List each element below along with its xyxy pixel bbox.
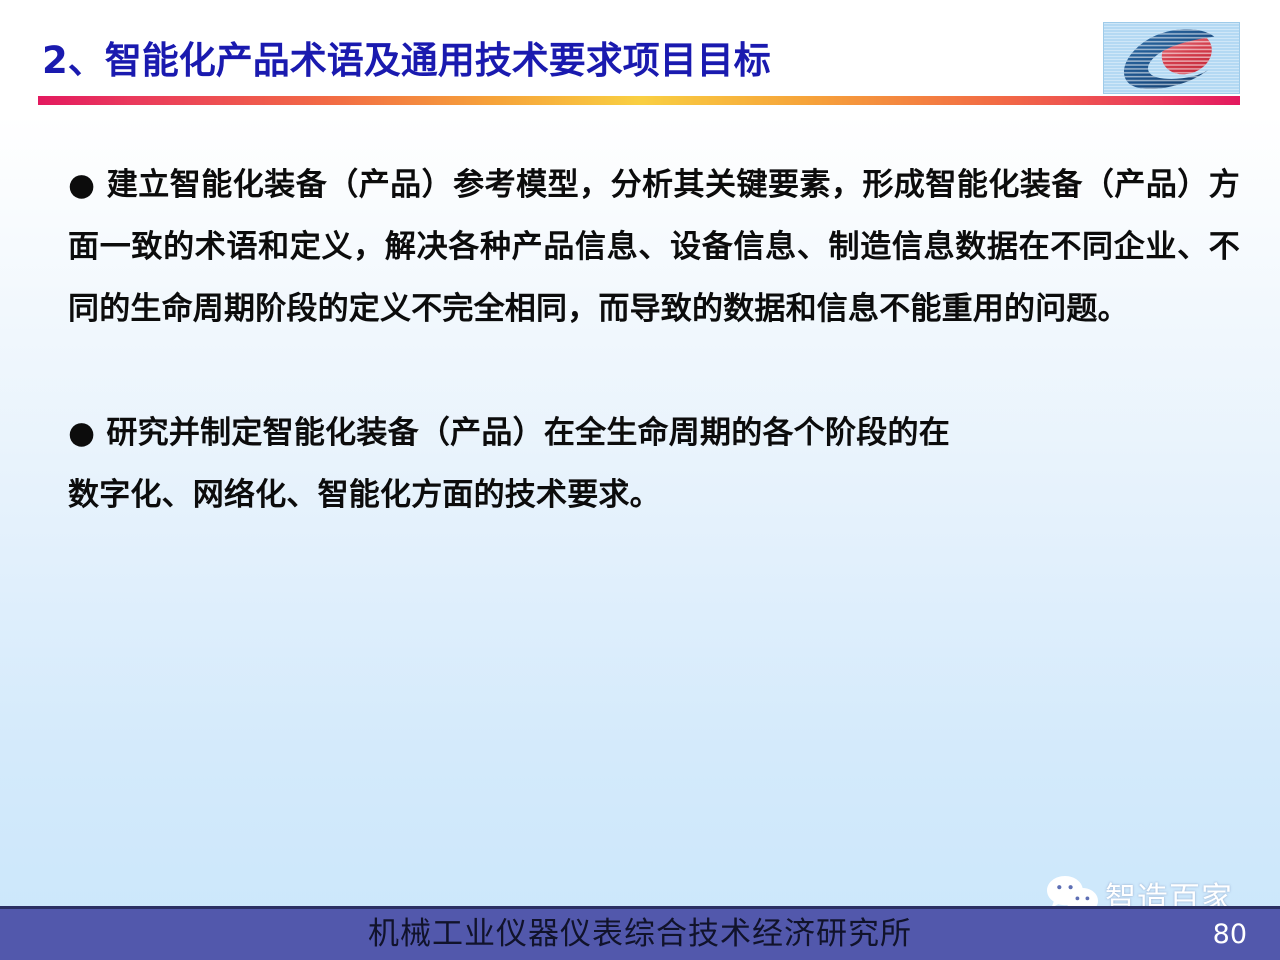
slide-title-area: 2、智能化产品术语及通用技术要求项目目标 — [0, 0, 1280, 110]
footer-organization: 机械工业仪器仪表综合技术经济研究所 — [0, 909, 1280, 960]
page-number: 80 — [1213, 909, 1247, 960]
slide-body: ● 建立智能化装备（产品）参考模型，分析其关键要素，形成智能化装备（产品）方面一… — [0, 130, 1280, 526]
footer-bar: 机械工业仪器仪表综合技术经济研究所 80 — [0, 906, 1280, 960]
bullet-paragraph: ● 研究并制定智能化装备（产品）在全生命周期的各个阶段的在数字化、网络化、智能化… — [0, 402, 1280, 526]
slide-canvas: 2、智能化产品术语及通用技术要求项目目标 — [0, 0, 1280, 960]
corporate-logo — [1103, 22, 1240, 94]
corporate-logo-icon — [1104, 23, 1239, 93]
bullet-paragraph: ● 建立智能化装备（产品）参考模型，分析其关键要素，形成智能化装备（产品）方面一… — [0, 154, 1280, 340]
page-title: 2、智能化产品术语及通用技术要求项目目标 — [42, 30, 771, 84]
title-divider-rule — [38, 96, 1240, 105]
